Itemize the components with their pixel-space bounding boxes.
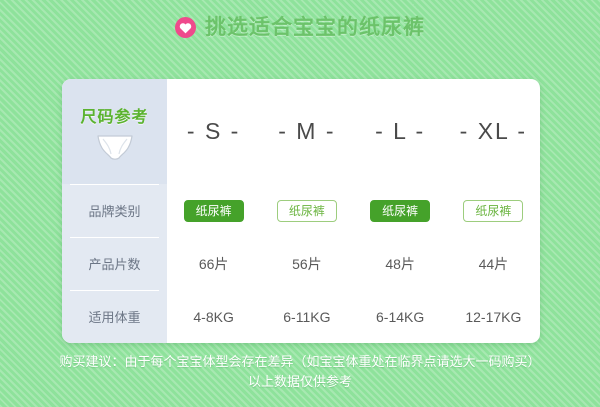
row-label-count: 产品片数: [62, 237, 167, 290]
size-header-s: - S -: [167, 79, 260, 184]
size-reference-card: 尺码参考 品牌类别 产品片数 适用体重 - S - - M - - L - - …: [62, 79, 540, 343]
status-badge: 纸尿裤: [277, 200, 337, 222]
table-cell: 44片: [447, 237, 540, 290]
table-cell: 12-17KG: [447, 290, 540, 343]
status-badge: 纸尿裤: [370, 200, 430, 222]
table-cell: 6-11KG: [260, 290, 353, 343]
table-row-brand-type: 纸尿裤 纸尿裤 纸尿裤 纸尿裤: [167, 184, 540, 237]
row-label-column: 尺码参考 品牌类别 产品片数 适用体重: [62, 79, 167, 343]
size-header-row: - S - - M - - L - - XL -: [167, 79, 540, 184]
row-label-text: 产品片数: [88, 254, 140, 273]
row-label-text: 适用体重: [88, 307, 140, 326]
page-title: 挑选适合宝宝的纸尿裤: [205, 17, 425, 38]
table-cell: 48片: [354, 237, 447, 290]
table-cell: 4-8KG: [167, 290, 260, 343]
table-cell: 66片: [167, 237, 260, 290]
status-badge: 纸尿裤: [184, 200, 244, 222]
table-cell: 纸尿裤: [260, 184, 353, 237]
table-cell: 纸尿裤: [354, 184, 447, 237]
size-header-l: - L -: [354, 79, 447, 184]
table-cell: 6-14KG: [354, 290, 447, 343]
purchase-advice-note: 购买建议：由于每个宝宝体型会存在差异（如宝宝体重处在临界点请选大一码购买） 以上…: [0, 352, 600, 392]
page-title-bar: 挑选适合宝宝的纸尿裤: [0, 16, 600, 38]
size-reference-label: 尺码参考: [80, 103, 148, 127]
size-header-xl: - XL -: [447, 79, 540, 184]
table-cell: 56片: [260, 237, 353, 290]
size-data-area: - S - - M - - L - - XL - 纸尿裤 纸尿裤 纸尿裤 纸尿裤…: [167, 79, 540, 343]
status-badge: 纸尿裤: [463, 200, 523, 222]
table-cell: 纸尿裤: [167, 184, 260, 237]
table-row-product-count: 66片 56片 48片 44片: [167, 237, 540, 290]
row-label-text: 品牌类别: [88, 201, 140, 220]
size-reference-header: 尺码参考: [62, 79, 167, 184]
heart-icon: [175, 17, 196, 38]
table-row-suitable-weight: 4-8KG 6-11KG 6-14KG 12-17KG: [167, 290, 540, 343]
table-cell: 纸尿裤: [447, 184, 540, 237]
purchase-advice-line-2: 以上数据仅供参考: [0, 372, 600, 392]
row-label-weight: 适用体重: [62, 290, 167, 343]
diaper-icon: [95, 133, 135, 160]
purchase-advice-line-1: 购买建议：由于每个宝宝体型会存在差异（如宝宝体重处在临界点请选大一码购买）: [0, 352, 600, 372]
row-label-brand: 品牌类别: [62, 184, 167, 237]
size-header-m: - M -: [260, 79, 353, 184]
